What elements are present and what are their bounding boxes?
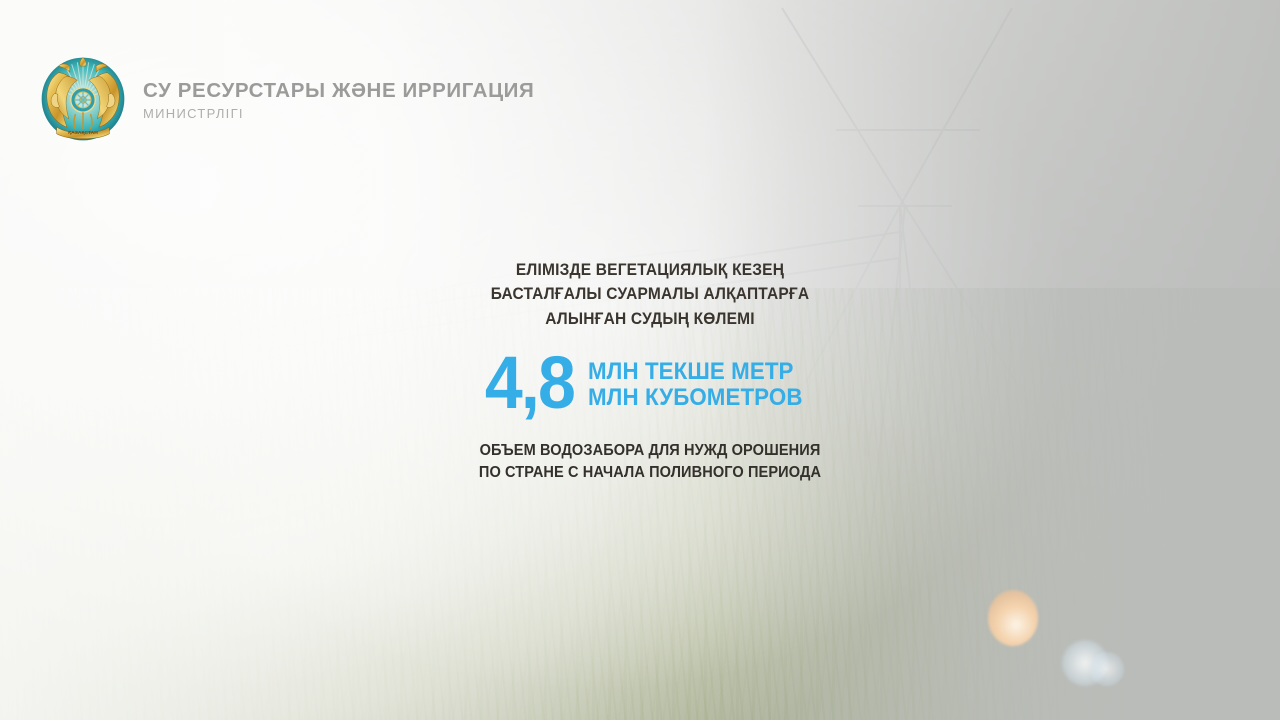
- caption-russian-line1: ОБЪЕМ ВОДОЗАБОРА ДЛЯ НУЖД ОРОШЕНИЯ: [443, 440, 857, 462]
- ministry-name-line1: СУ РЕСУРСТАРЫ ЖӘНЕ ИРРИГАЦИЯ: [143, 81, 534, 102]
- headline-kazakh: ЕЛІМІЗДЕ ВЕГЕТАЦИЯЛЫҚ КЕЗЕҢ БАСТАЛҒАЛЫ С…: [443, 258, 857, 331]
- ministry-name: СУ РЕСУРСТАРЫ ЖӘНЕ ИРРИГАЦИЯ МИНИСТРЛІГІ: [143, 78, 534, 120]
- emblem-ribbon-text: ҚАЗАҚСТАН: [68, 130, 98, 136]
- ministry-name-line2: МИНИСТРЛІГІ: [143, 107, 534, 120]
- figure-units: МЛН ТЕКШЕ МЕТР МЛН КУБОМЕТРОВ: [588, 355, 819, 410]
- headline-kazakh-line3: АЛЫНҒАН СУДЫҢ КӨЛЕМІ: [443, 307, 857, 331]
- kazakhstan-state-emblem-icon: ҚАЗАҚСТАН: [36, 52, 130, 146]
- headline-kazakh-line2: БАСТАЛҒАЛЫ СУАРМАЛЫ АЛҚАПТАРҒА: [443, 282, 857, 306]
- headline-kazakh-line1: ЕЛІМІЗДЕ ВЕГЕТАЦИЯЛЫҚ КЕЗЕҢ: [443, 258, 857, 282]
- statistic-block: ЕЛІМІЗДЕ ВЕГЕТАЦИЯЛЫҚ КЕЗЕҢ БАСТАЛҒАЛЫ С…: [430, 258, 870, 484]
- figure-value: 4,8: [485, 351, 574, 415]
- figure-unit-kazakh: МЛН ТЕКШЕ МЕТР: [588, 359, 803, 384]
- figure-unit-russian: МЛН КУБОМЕТРОВ: [588, 385, 803, 410]
- caption-russian: ОБЪЕМ ВОДОЗАБОРА ДЛЯ НУЖД ОРОШЕНИЯ ПО СТ…: [443, 440, 857, 484]
- figure-row: 4,8 МЛН ТЕКШЕ МЕТР МЛН КУБОМЕТРОВ: [430, 351, 870, 415]
- caption-russian-line2: ПО СТРАНЕ С НАЧАЛА ПОЛИВНОГО ПЕРИОДА: [443, 462, 857, 484]
- ministry-logo-lockup: ҚАЗАҚСТАН СУ РЕСУРСТАРЫ ЖӘНЕ ИРРИГАЦИЯ М…: [36, 52, 534, 146]
- infographic-slide: ҚАЗАҚСТАН СУ РЕСУРСТАРЫ ЖӘНЕ ИРРИГАЦИЯ М…: [0, 0, 1280, 720]
